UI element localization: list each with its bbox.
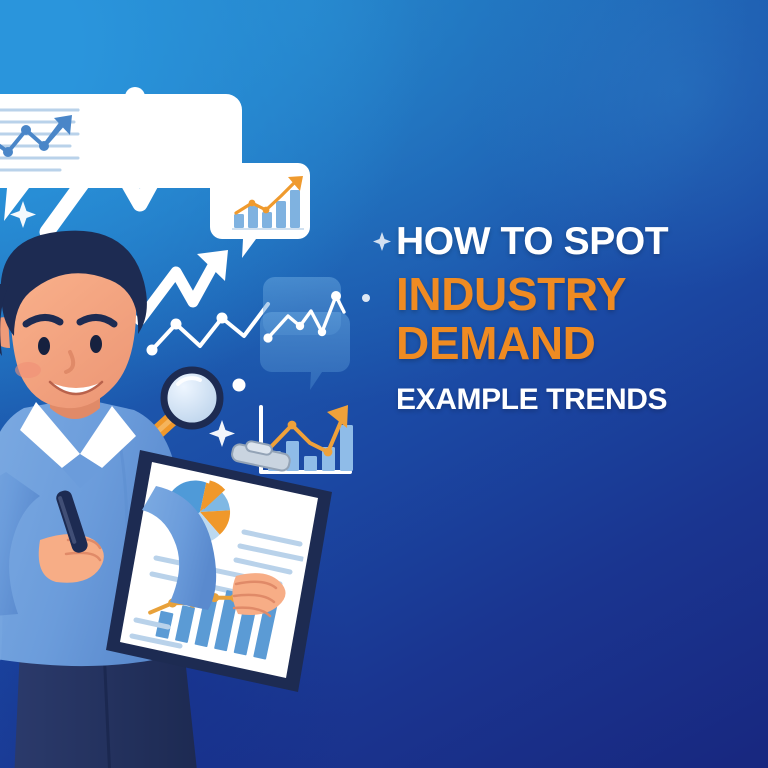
- headline-block: HOW TO SPOT INDUSTRY DEMAND EXAMPLE TREN…: [396, 222, 736, 415]
- headline-line-1: HOW TO SPOT: [396, 222, 736, 262]
- character-eye-left: [38, 337, 50, 355]
- headline-line-2: INDUSTRY: [396, 271, 736, 318]
- analyst-character-illustration: [0, 240, 344, 768]
- clipboard: [106, 440, 332, 692]
- headline-line-4: EXAMPLE TRENDS: [396, 385, 736, 416]
- poster-canvas: HOW TO SPOT INDUSTRY DEMAND EXAMPLE TREN…: [0, 0, 768, 768]
- character-eye-right: [90, 335, 102, 353]
- headline-line-3: DEMAND: [396, 320, 736, 367]
- bubble-line-chart-icon: [0, 94, 242, 221]
- character-cheek: [15, 362, 41, 378]
